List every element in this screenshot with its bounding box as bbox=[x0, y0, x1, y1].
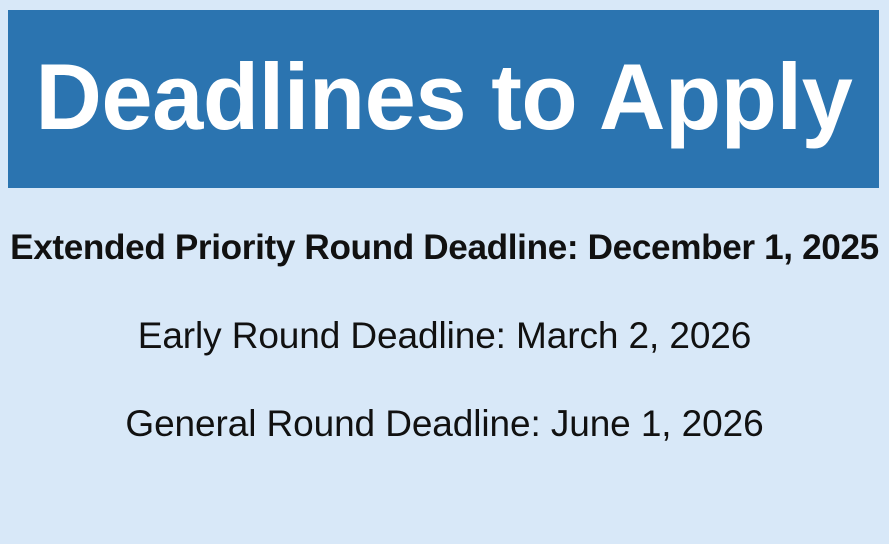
page-title: Deadlines to Apply bbox=[27, 50, 860, 144]
deadline-item-extended-priority: Extended Priority Round Deadline: Decemb… bbox=[0, 230, 889, 265]
deadline-list: Extended Priority Round Deadline: Decemb… bbox=[0, 188, 889, 544]
deadline-item-early: Early Round Deadline: March 2, 2026 bbox=[0, 317, 889, 354]
deadlines-panel: Deadlines to Apply Extended Priority Rou… bbox=[0, 0, 889, 544]
header-banner: Deadlines to Apply bbox=[8, 10, 879, 188]
deadline-item-general: General Round Deadline: June 1, 2026 bbox=[0, 405, 889, 442]
